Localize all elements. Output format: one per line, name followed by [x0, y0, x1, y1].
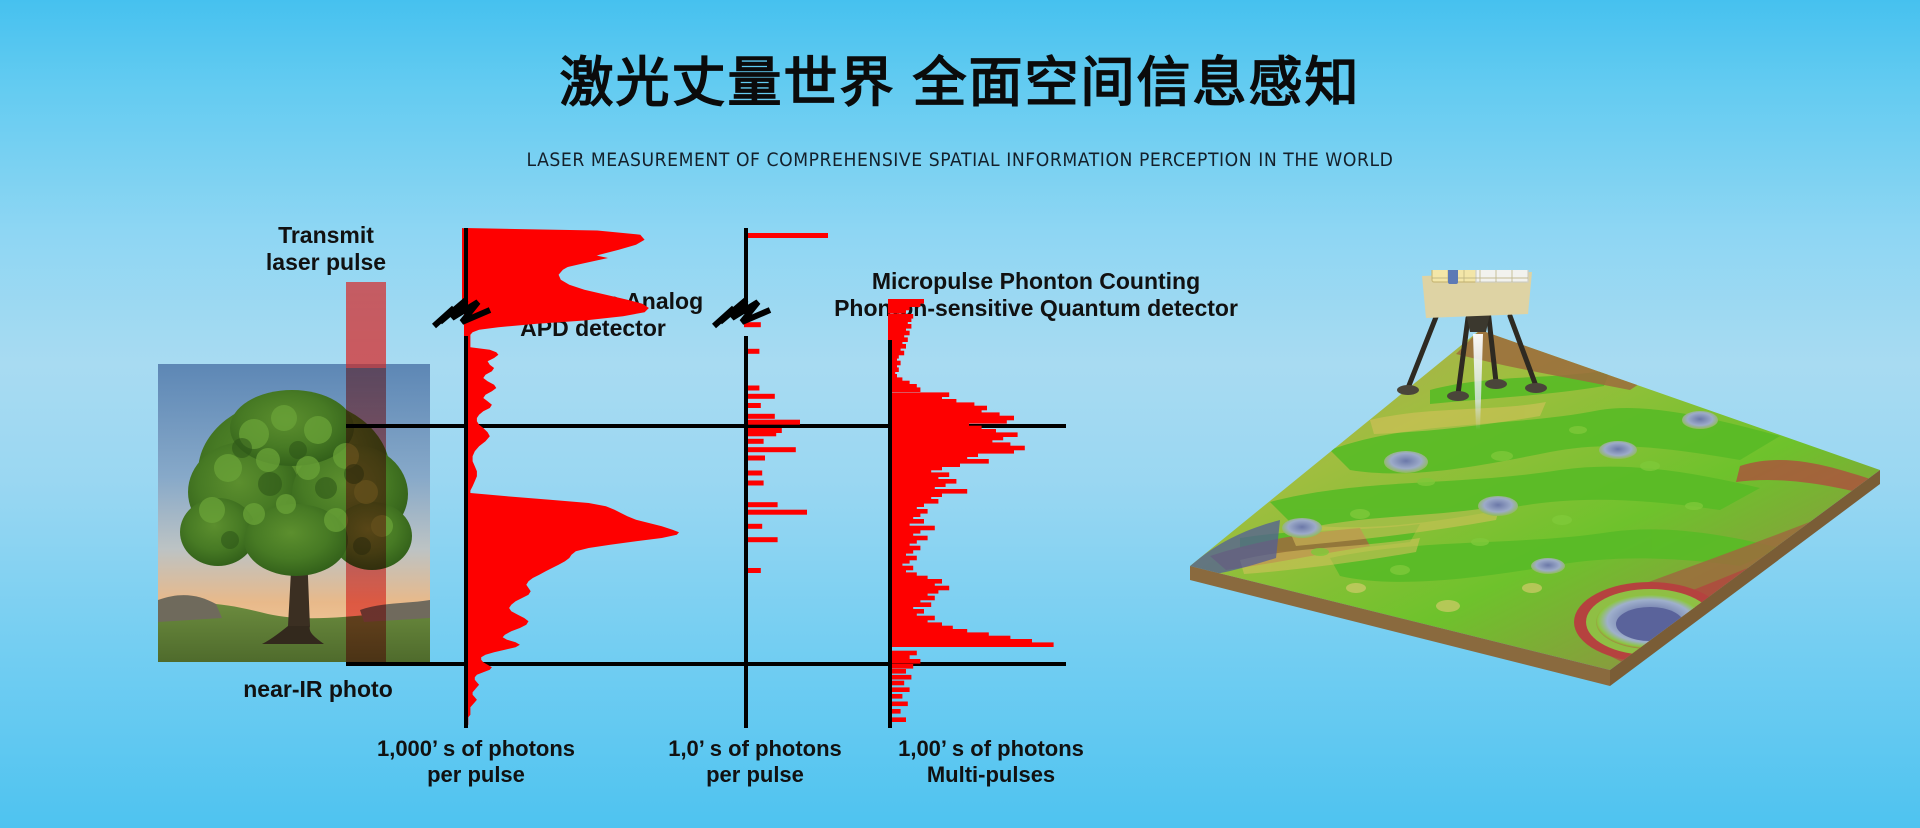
chart-photon-counting-histogram: [886, 228, 1076, 728]
caption-multipulse: 1,00’ s of photons Multi-pulses: [876, 736, 1106, 789]
sparse-axis-break-icon: [712, 296, 780, 344]
caption-analog: 1,000’ s of photons per pulse: [346, 736, 606, 789]
analog-axis-break-icon: [432, 296, 500, 344]
transmit-pulse-label: Transmit laser pulse: [236, 222, 416, 276]
poster-canvas: 激光丈量世界 全面空间信息感知 LASER MEASUREMENT OF COM…: [0, 0, 1920, 828]
caption-low-count: 1,0’ s of photons per pulse: [640, 736, 870, 789]
dense-axis: [888, 340, 892, 728]
caption-low-count-line2: per pulse: [640, 762, 870, 788]
caption-multipulse-line1: 1,00’ s of photons: [876, 736, 1106, 762]
photo-caption: near-IR photo: [198, 676, 438, 703]
caption-analog-line2: per pulse: [346, 762, 606, 788]
laser-beam-upper: [346, 282, 386, 368]
analog-axis-lower: [464, 336, 468, 728]
page-title: 激光丈量世界 全面空间信息感知: [0, 52, 1920, 114]
transmit-label-line2: laser pulse: [236, 249, 416, 276]
caption-multipulse-line2: Multi-pulses: [876, 762, 1106, 788]
photon-counting-histogram-svg: [886, 228, 1076, 728]
lander-panel: [1476, 270, 1528, 282]
caption-low-count-line1: 1,0’ s of photons: [640, 736, 870, 762]
page-subtitle: LASER MEASUREMENT OF COMPREHENSIVE SPATI…: [67, 150, 1853, 171]
transmit-label-line1: Transmit: [236, 222, 416, 249]
terrain-model-graphic: ★: [1180, 270, 1880, 720]
sparse-axis-lower: [744, 336, 748, 728]
near-ir-photo: [158, 364, 430, 662]
lander-instrument: [1448, 270, 1458, 284]
caption-analog-line1: 1,000’ s of photons: [346, 736, 606, 762]
tree-photo-graphic: [158, 364, 430, 662]
